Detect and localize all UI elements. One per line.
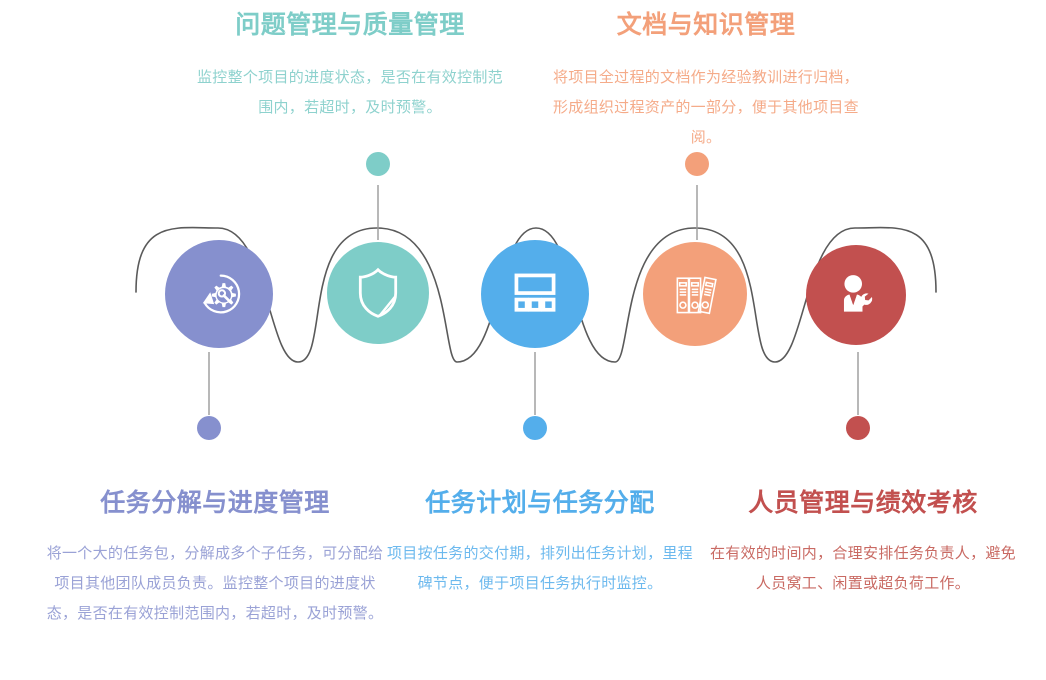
accent-dot-3 [523, 416, 547, 440]
accent-dot-1 [197, 416, 221, 440]
binders-archive-icon [669, 268, 721, 320]
heading-personnel-kpi: 人员管理与绩效考核 [703, 488, 1023, 519]
org-chart-icon [509, 272, 561, 316]
refresh-gear-wrench-icon [191, 266, 247, 322]
node-doc-knowledge[interactable] [643, 242, 747, 346]
node-personnel-kpi[interactable] [806, 245, 906, 345]
text-block-task-plan: 任务计划与任务分配 项目按任务的交付期，排列出任务计划，里程碑节点，便于项目任务… [380, 488, 700, 599]
node-task-plan[interactable] [481, 240, 589, 348]
heading-task-plan: 任务计划与任务分配 [380, 488, 700, 519]
node-task-breakdown[interactable] [165, 240, 273, 348]
person-wrench-icon [831, 270, 881, 320]
body-issue-quality: 监控整个项目的进度状态，是否在有效控制范围内，若超时，及时预警。 [190, 63, 510, 123]
heading-issue-quality: 问题管理与质量管理 [190, 10, 510, 41]
accent-dot-2 [366, 152, 390, 176]
heading-task-breakdown: 任务分解与进度管理 [45, 488, 385, 519]
body-task-breakdown: 将一个大的任务包，分解成多个子任务，可分配给项目其他团队成员负责。监控整个项目的… [45, 539, 385, 629]
accent-dot-5 [846, 416, 870, 440]
body-task-plan: 项目按任务的交付期，排列出任务计划，里程碑节点，便于项目任务执行时监控。 [380, 539, 700, 599]
body-personnel-kpi: 在有效的时间内，合理安排任务负责人，避免人员窝工、闲置或超负荷工作。 [703, 539, 1023, 599]
text-block-doc-knowledge: 文档与知识管理 将项目全过程的文档作为经验教训进行归档，形成组织过程资产的一部分… [546, 10, 866, 153]
text-block-issue-quality: 问题管理与质量管理 监控整个项目的进度状态，是否在有效控制范围内，若超时，及时预… [190, 10, 510, 123]
body-doc-knowledge: 将项目全过程的文档作为经验教训进行归档，形成组织过程资产的一部分，便于其他项目查… [546, 63, 866, 153]
node-issue-quality[interactable] [327, 242, 429, 344]
shield-icon [353, 266, 403, 320]
infographic-canvas: 问题管理与质量管理 监控整个项目的进度状态，是否在有效控制范围内，若超时，及时预… [0, 0, 1046, 680]
accent-dot-4 [685, 152, 709, 176]
text-block-task-breakdown: 任务分解与进度管理 将一个大的任务包，分解成多个子任务，可分配给项目其他团队成员… [45, 488, 385, 629]
heading-doc-knowledge: 文档与知识管理 [546, 10, 866, 41]
text-block-personnel-kpi: 人员管理与绩效考核 在有效的时间内，合理安排任务负责人，避免人员窝工、闲置或超负… [703, 488, 1023, 599]
